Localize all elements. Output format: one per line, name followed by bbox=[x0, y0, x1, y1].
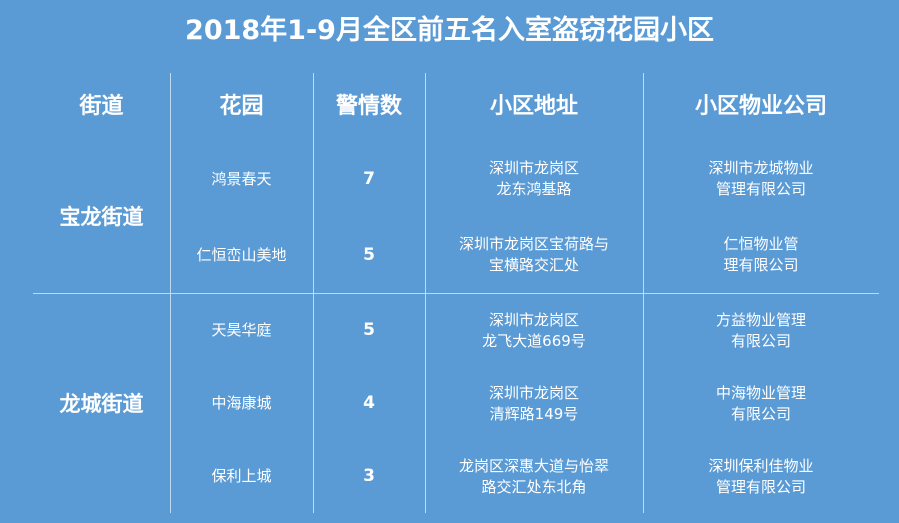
street-group: 龙城街道 天昊华庭 5 深圳市龙岗区 龙飞大道669号 方益物业管理 有限公司 … bbox=[33, 294, 879, 513]
cell-garden: 中海康城 bbox=[170, 393, 313, 414]
data-table: 街道 花园 警情数 小区地址 小区物业公司 宝龙街道 鸿景春天 7 深圳市龙岗区… bbox=[33, 73, 879, 513]
page-title-text: 2018年1-9月全区前五名入室盗窃花园小区 bbox=[185, 14, 714, 48]
cell-count: 3 bbox=[313, 466, 425, 487]
column-header-company: 小区物业公司 bbox=[643, 93, 879, 121]
cell-company: 深圳保利佳物业 管理有限公司 bbox=[643, 456, 879, 498]
cell-company: 仁恒物业管 理有限公司 bbox=[643, 234, 879, 276]
table-row: 中海康城 4 深圳市龙岗区 清辉路149号 中海物业管理 有限公司 bbox=[170, 367, 879, 440]
table-row: 仁恒峦山美地 5 深圳市龙岗区宝荷路与 宝横路交汇处 仁恒物业管 理有限公司 bbox=[170, 217, 879, 293]
street-name: 龙城街道 bbox=[33, 294, 170, 513]
street-group-rows: 天昊华庭 5 深圳市龙岗区 龙飞大道669号 方益物业管理 有限公司 中海康城 … bbox=[170, 294, 879, 513]
cell-garden: 仁恒峦山美地 bbox=[170, 245, 313, 266]
cell-garden: 保利上城 bbox=[170, 466, 313, 487]
table-row: 保利上城 3 龙岗区深惠大道与怡翠 路交汇处东北角 深圳保利佳物业 管理有限公司 bbox=[170, 440, 879, 513]
cell-address: 深圳市龙岗区宝荷路与 宝横路交汇处 bbox=[425, 234, 643, 276]
table-poster: 2018年1-9月全区前五名入室盗窃花园小区 街道 花园 警情数 小区地址 小区… bbox=[0, 0, 899, 523]
column-header-address: 小区地址 bbox=[425, 93, 643, 121]
cell-count: 5 bbox=[313, 245, 425, 266]
table-row: 鸿景春天 7 深圳市龙岗区 龙东鸿基路 深圳市龙城物业 管理有限公司 bbox=[170, 141, 879, 217]
table-row: 天昊华庭 5 深圳市龙岗区 龙飞大道669号 方益物业管理 有限公司 bbox=[170, 294, 879, 367]
cell-count: 5 bbox=[313, 320, 425, 341]
cell-garden: 鸿景春天 bbox=[170, 169, 313, 190]
table-header-row: 街道 花园 警情数 小区地址 小区物业公司 bbox=[33, 73, 879, 141]
cell-garden: 天昊华庭 bbox=[170, 320, 313, 341]
cell-address: 深圳市龙岗区 清辉路149号 bbox=[425, 383, 643, 425]
page-title: 2018年1-9月全区前五名入室盗窃花园小区 bbox=[0, 14, 899, 48]
street-group-rows: 鸿景春天 7 深圳市龙岗区 龙东鸿基路 深圳市龙城物业 管理有限公司 仁恒峦山美… bbox=[170, 141, 879, 293]
column-header-count: 警情数 bbox=[313, 93, 425, 121]
cell-address: 龙岗区深惠大道与怡翠 路交汇处东北角 bbox=[425, 456, 643, 498]
cell-company: 中海物业管理 有限公司 bbox=[643, 383, 879, 425]
street-group: 宝龙街道 鸿景春天 7 深圳市龙岗区 龙东鸿基路 深圳市龙城物业 管理有限公司 … bbox=[33, 141, 879, 293]
cell-company: 方益物业管理 有限公司 bbox=[643, 310, 879, 352]
column-header-street: 街道 bbox=[33, 93, 170, 121]
cell-count: 4 bbox=[313, 393, 425, 414]
cell-address: 深圳市龙岗区 龙东鸿基路 bbox=[425, 158, 643, 200]
column-header-garden: 花园 bbox=[170, 93, 313, 121]
cell-count: 7 bbox=[313, 169, 425, 190]
cell-company: 深圳市龙城物业 管理有限公司 bbox=[643, 158, 879, 200]
cell-address: 深圳市龙岗区 龙飞大道669号 bbox=[425, 310, 643, 352]
street-name: 宝龙街道 bbox=[33, 141, 170, 293]
